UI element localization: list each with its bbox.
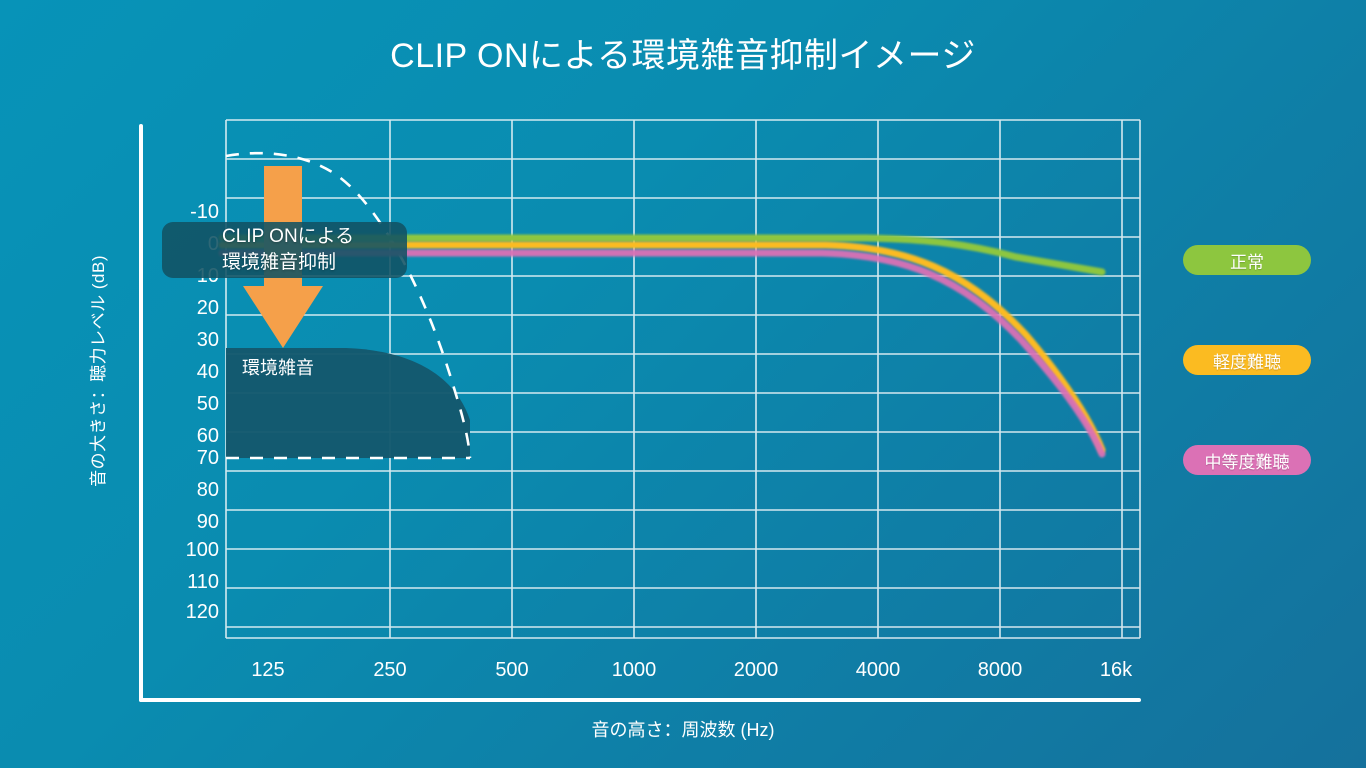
legend-label-moderate: 中等度難聴 — [1205, 448, 1290, 473]
y-tick-label: -10 — [190, 202, 219, 222]
x-tick-label: 125 — [251, 660, 284, 680]
x-tick-label: 4000 — [856, 660, 901, 680]
legend-item-moderate[interactable]: 中等度難聴 — [1183, 445, 1311, 475]
x-axis-title: 音の高さ：周波数 (Hz) — [0, 716, 1366, 742]
slide-root: CLIP ONによる環境雑音抑制イメージ -10 0 10 20 30 40 5… — [0, 0, 1366, 768]
y-tick-label: 80 — [197, 480, 219, 500]
y-tick-label: 90 — [197, 512, 219, 532]
x-tick-label: 2000 — [734, 660, 779, 680]
x-axis-tick-labels: 125 250 500 1000 2000 4000 8000 16k — [226, 640, 1140, 680]
x-axis-line — [139, 698, 1141, 702]
y-tick-label: 100 — [186, 540, 219, 560]
legend-label-normal: 正常 — [1230, 248, 1264, 273]
y-tick-label: 20 — [197, 298, 219, 318]
y-tick-label: 50 — [197, 394, 219, 414]
x-tick-label: 8000 — [978, 660, 1023, 680]
legend-label-mild: 軽度難聴 — [1213, 348, 1281, 373]
legend-item-normal[interactable]: 正常 — [1183, 245, 1311, 275]
x-tick-label: 1000 — [612, 660, 657, 680]
y-tick-label: 60 — [197, 426, 219, 446]
plot-area — [226, 120, 1140, 638]
legend-item-mild[interactable]: 軽度難聴 — [1183, 345, 1311, 375]
x-tick-label: 250 — [373, 660, 406, 680]
y-tick-label: 110 — [187, 572, 219, 592]
x-tick-label: 500 — [495, 660, 528, 680]
y-tick-label: 70 — [197, 448, 219, 468]
y-tick-label: 30 — [197, 330, 219, 350]
y-axis-title: 音の大きさ：聴力レベル (dB) — [84, 255, 109, 487]
page-title: CLIP ONによる環境雑音抑制イメージ — [0, 28, 1366, 77]
audiogram-curves — [226, 120, 1140, 638]
legend: 正常 軽度難聴 中等度難聴 — [1183, 245, 1313, 495]
y-axis-tick-labels: -10 0 10 20 30 40 50 60 70 80 90 100 110… — [139, 118, 219, 636]
callout-label: CLIP ONによる 環境雑音抑制 — [222, 224, 462, 276]
y-tick-label: 40 — [197, 362, 219, 382]
x-tick-label: 16k — [1100, 660, 1132, 680]
noise-region-label: 環境雑音 — [242, 354, 314, 380]
y-tick-label: 120 — [186, 602, 219, 622]
